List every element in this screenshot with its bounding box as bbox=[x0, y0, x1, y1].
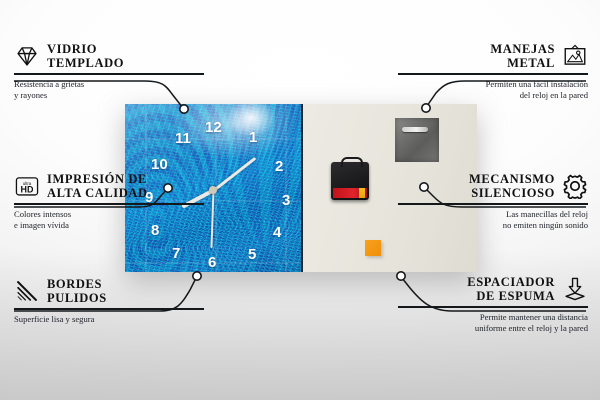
clock-numeral-7: 7 bbox=[172, 245, 180, 262]
desc-line-2: del reloj en la pared bbox=[398, 90, 588, 102]
gear-icon bbox=[562, 173, 588, 199]
clock-numeral-1: 1 bbox=[249, 129, 257, 146]
callout-title: VIDRIO TEMPLADO bbox=[47, 42, 124, 70]
callout-title: IMPRESIÓN DE ALTA CALIDAD bbox=[47, 172, 148, 200]
callout-description: Resistencia a grietas y rayones bbox=[14, 79, 204, 102]
title-line-2: TEMPLADO bbox=[47, 56, 124, 70]
foam-spacer-pad bbox=[365, 240, 381, 256]
callout-title: MANEJAS METAL bbox=[490, 42, 555, 70]
clock-numeral-3: 3 bbox=[282, 192, 290, 209]
callout-rule bbox=[14, 308, 204, 310]
desc-line-2: y rayones bbox=[14, 90, 204, 102]
metal-hanger-plate bbox=[395, 118, 439, 162]
title-line-1: BORDES bbox=[47, 277, 107, 291]
clock-center-cap bbox=[209, 186, 217, 194]
callout-vidrio-templado: VIDRIO TEMPLADO Resistencia a grietas y … bbox=[14, 42, 204, 102]
callout-description: Colores intensos e imagen vívida bbox=[14, 209, 204, 232]
callout-header: MANEJAS METAL bbox=[398, 42, 588, 70]
desc-line-2: e imagen vívida bbox=[14, 220, 204, 232]
clock-numeral-10: 10 bbox=[151, 156, 168, 173]
callout-rule bbox=[398, 73, 588, 75]
title-line-2: SILENCIOSO bbox=[469, 186, 555, 200]
desc-line-1: Colores intensos bbox=[14, 209, 204, 221]
callout-header: ultra HD IMPRESIÓN DE ALTA CALIDAD bbox=[14, 172, 204, 200]
callout-header: VIDRIO TEMPLADO bbox=[14, 42, 204, 70]
callout-description: Superficie lisa y segura bbox=[14, 314, 204, 326]
callout-title: MECANISMO SILENCIOSO bbox=[469, 172, 555, 200]
clock-numeral-2: 2 bbox=[275, 158, 283, 175]
callout-title: ESPACIADOR DE ESPUMA bbox=[467, 275, 555, 303]
clock-numeral-4: 4 bbox=[273, 224, 281, 241]
callout-espaciador-espuma: ESPACIADOR DE ESPUMA Permite mantener un… bbox=[398, 275, 588, 335]
arrow-down-platform-icon bbox=[562, 276, 588, 302]
title-line-1: IMPRESIÓN DE bbox=[47, 172, 148, 186]
desc-line-1: Las manecillas del reloj bbox=[398, 209, 588, 221]
title-line-2: ALTA CALIDAD bbox=[47, 186, 148, 200]
title-line-1: MECANISMO bbox=[469, 172, 555, 186]
desc-line-1: Permite mantener una distancia bbox=[398, 312, 588, 324]
callout-header: BORDES PULIDOS bbox=[14, 277, 204, 305]
clock-numeral-6: 6 bbox=[208, 254, 216, 271]
clock-numeral-5: 5 bbox=[248, 246, 256, 263]
desc-line-1: Superficie lisa y segura bbox=[14, 314, 204, 326]
clock-numeral-11: 11 bbox=[175, 130, 191, 147]
callout-header: ESPACIADOR DE ESPUMA bbox=[398, 275, 588, 303]
infographic-canvas: 12 1 2 3 4 5 6 7 8 9 10 11 bbox=[0, 0, 600, 400]
callout-rule bbox=[14, 203, 204, 205]
clock-numeral-12: 12 bbox=[205, 119, 222, 136]
callout-mecanismo-silencioso: MECANISMO SILENCIOSO Las manecillas del … bbox=[398, 172, 588, 232]
diamond-icon bbox=[14, 43, 40, 69]
callout-manejas-metal: MANEJAS METAL Permiten una fácil instala… bbox=[398, 42, 588, 102]
title-line-2: DE ESPUMA bbox=[467, 289, 555, 303]
desc-line-2: no emiten ningún sonido bbox=[398, 220, 588, 232]
ultra-hd-icon-main-text: HD bbox=[21, 185, 34, 195]
desc-line-2: uniforme entre el reloj y la pared bbox=[398, 323, 588, 335]
callout-description: Permiten una fácil instalación del reloj… bbox=[398, 79, 588, 102]
callout-rule bbox=[398, 306, 588, 308]
clock-mechanism-box bbox=[331, 162, 369, 200]
title-line-2: PULIDOS bbox=[47, 291, 107, 305]
polished-edges-icon bbox=[14, 278, 40, 304]
mechanism-red-label bbox=[333, 188, 367, 198]
callout-title: BORDES PULIDOS bbox=[47, 277, 107, 305]
title-line-1: VIDRIO bbox=[47, 42, 124, 56]
desc-line-1: Permiten una fácil instalación bbox=[398, 79, 588, 91]
callout-description: Las manecillas del reloj no emiten ningú… bbox=[398, 209, 588, 232]
mechanism-handle bbox=[341, 157, 363, 167]
picture-frame-hook-icon bbox=[562, 43, 588, 69]
ultra-hd-icon: ultra HD bbox=[14, 173, 40, 199]
callout-impresion-alta-calidad: ultra HD IMPRESIÓN DE ALTA CALIDAD Color… bbox=[14, 172, 204, 232]
title-line-1: MANEJAS bbox=[490, 42, 555, 56]
callout-header: MECANISMO SILENCIOSO bbox=[398, 172, 588, 200]
callout-bordes-pulidos: BORDES PULIDOS Superficie lisa y segura bbox=[14, 277, 204, 325]
callout-rule bbox=[398, 203, 588, 205]
desc-line-1: Resistencia a grietas bbox=[14, 79, 204, 91]
callout-description: Permite mantener una distancia uniforme … bbox=[398, 312, 588, 335]
callout-rule bbox=[14, 73, 204, 75]
hanger-slot bbox=[402, 127, 428, 132]
title-line-1: ESPACIADOR bbox=[467, 275, 555, 289]
title-line-2: METAL bbox=[490, 56, 555, 70]
